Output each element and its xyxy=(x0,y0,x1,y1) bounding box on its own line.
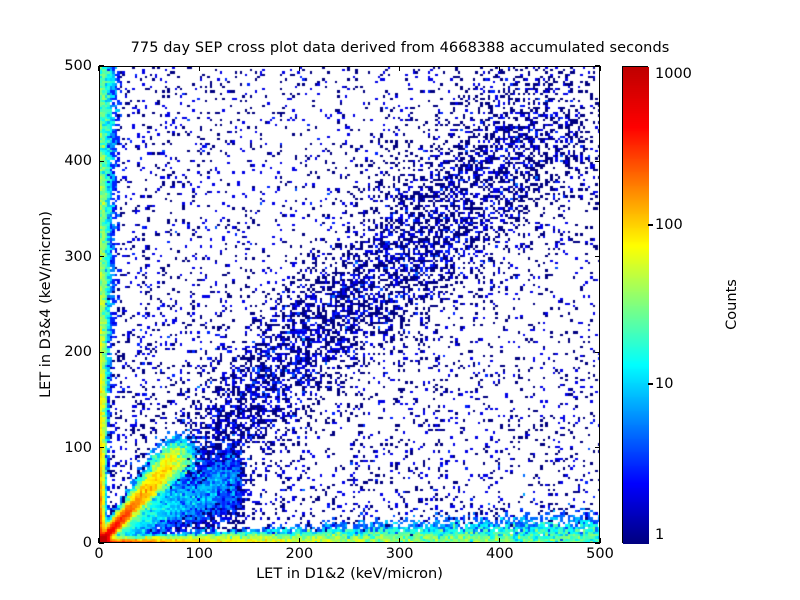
y-tick-right-500 xyxy=(595,65,600,66)
y-tick-200 xyxy=(99,352,104,353)
colorbar-tick-label-1000: 1000 xyxy=(655,66,692,82)
x-tick-400 xyxy=(499,538,500,543)
colorbar-canvas xyxy=(623,67,649,544)
x-tick-label-0: 0 xyxy=(94,546,103,562)
colorbar-tick-label-1: 1 xyxy=(655,527,664,543)
y-axis-label: LET in D3&4 (keV/micron) xyxy=(38,66,54,543)
x-tick-top-0 xyxy=(98,66,99,71)
density-heatmap xyxy=(100,67,600,543)
x-tick-100 xyxy=(199,538,200,543)
y-tick-right-300 xyxy=(595,256,600,257)
y-tick-right-100 xyxy=(595,447,600,448)
x-tick-300 xyxy=(399,538,400,543)
colorbar-tick-10 xyxy=(648,383,653,384)
y-tick-0 xyxy=(99,542,104,543)
plot-axes-area xyxy=(99,66,600,543)
figure-canvas: 775 day SEP cross plot data derived from… xyxy=(0,0,800,600)
x-tick-top-200 xyxy=(299,66,300,71)
y-tick-500 xyxy=(99,65,104,66)
colorbar-label: Counts xyxy=(724,66,740,543)
x-axis-label: LET in D1&2 (keV/micron) xyxy=(99,566,600,582)
x-tick-top-400 xyxy=(499,66,500,71)
colorbar-gradient xyxy=(622,66,648,543)
x-tick-label-200: 200 xyxy=(286,546,314,562)
x-tick-label-100: 100 xyxy=(185,546,213,562)
colorbar-tick-100 xyxy=(648,224,653,225)
y-tick-right-0 xyxy=(595,542,600,543)
x-tick-top-300 xyxy=(399,66,400,71)
y-tick-400 xyxy=(99,161,104,162)
x-tick-top-500 xyxy=(599,66,600,71)
colorbar-tick-label-100: 100 xyxy=(655,217,683,233)
y-tick-300 xyxy=(99,256,104,257)
x-tick-label-400: 400 xyxy=(486,546,514,562)
y-tick-100 xyxy=(99,447,104,448)
x-tick-label-300: 300 xyxy=(386,546,414,562)
x-tick-200 xyxy=(299,538,300,543)
y-tick-right-200 xyxy=(595,352,600,353)
x-tick-label-500: 500 xyxy=(586,546,614,562)
y-tick-right-400 xyxy=(595,161,600,162)
plot-title-line-1: 775 day SEP cross plot data derived from… xyxy=(0,40,800,57)
colorbar-group: 1101001000 xyxy=(622,66,648,543)
colorbar-tick-label-10: 10 xyxy=(655,376,673,392)
x-tick-top-100 xyxy=(199,66,200,71)
